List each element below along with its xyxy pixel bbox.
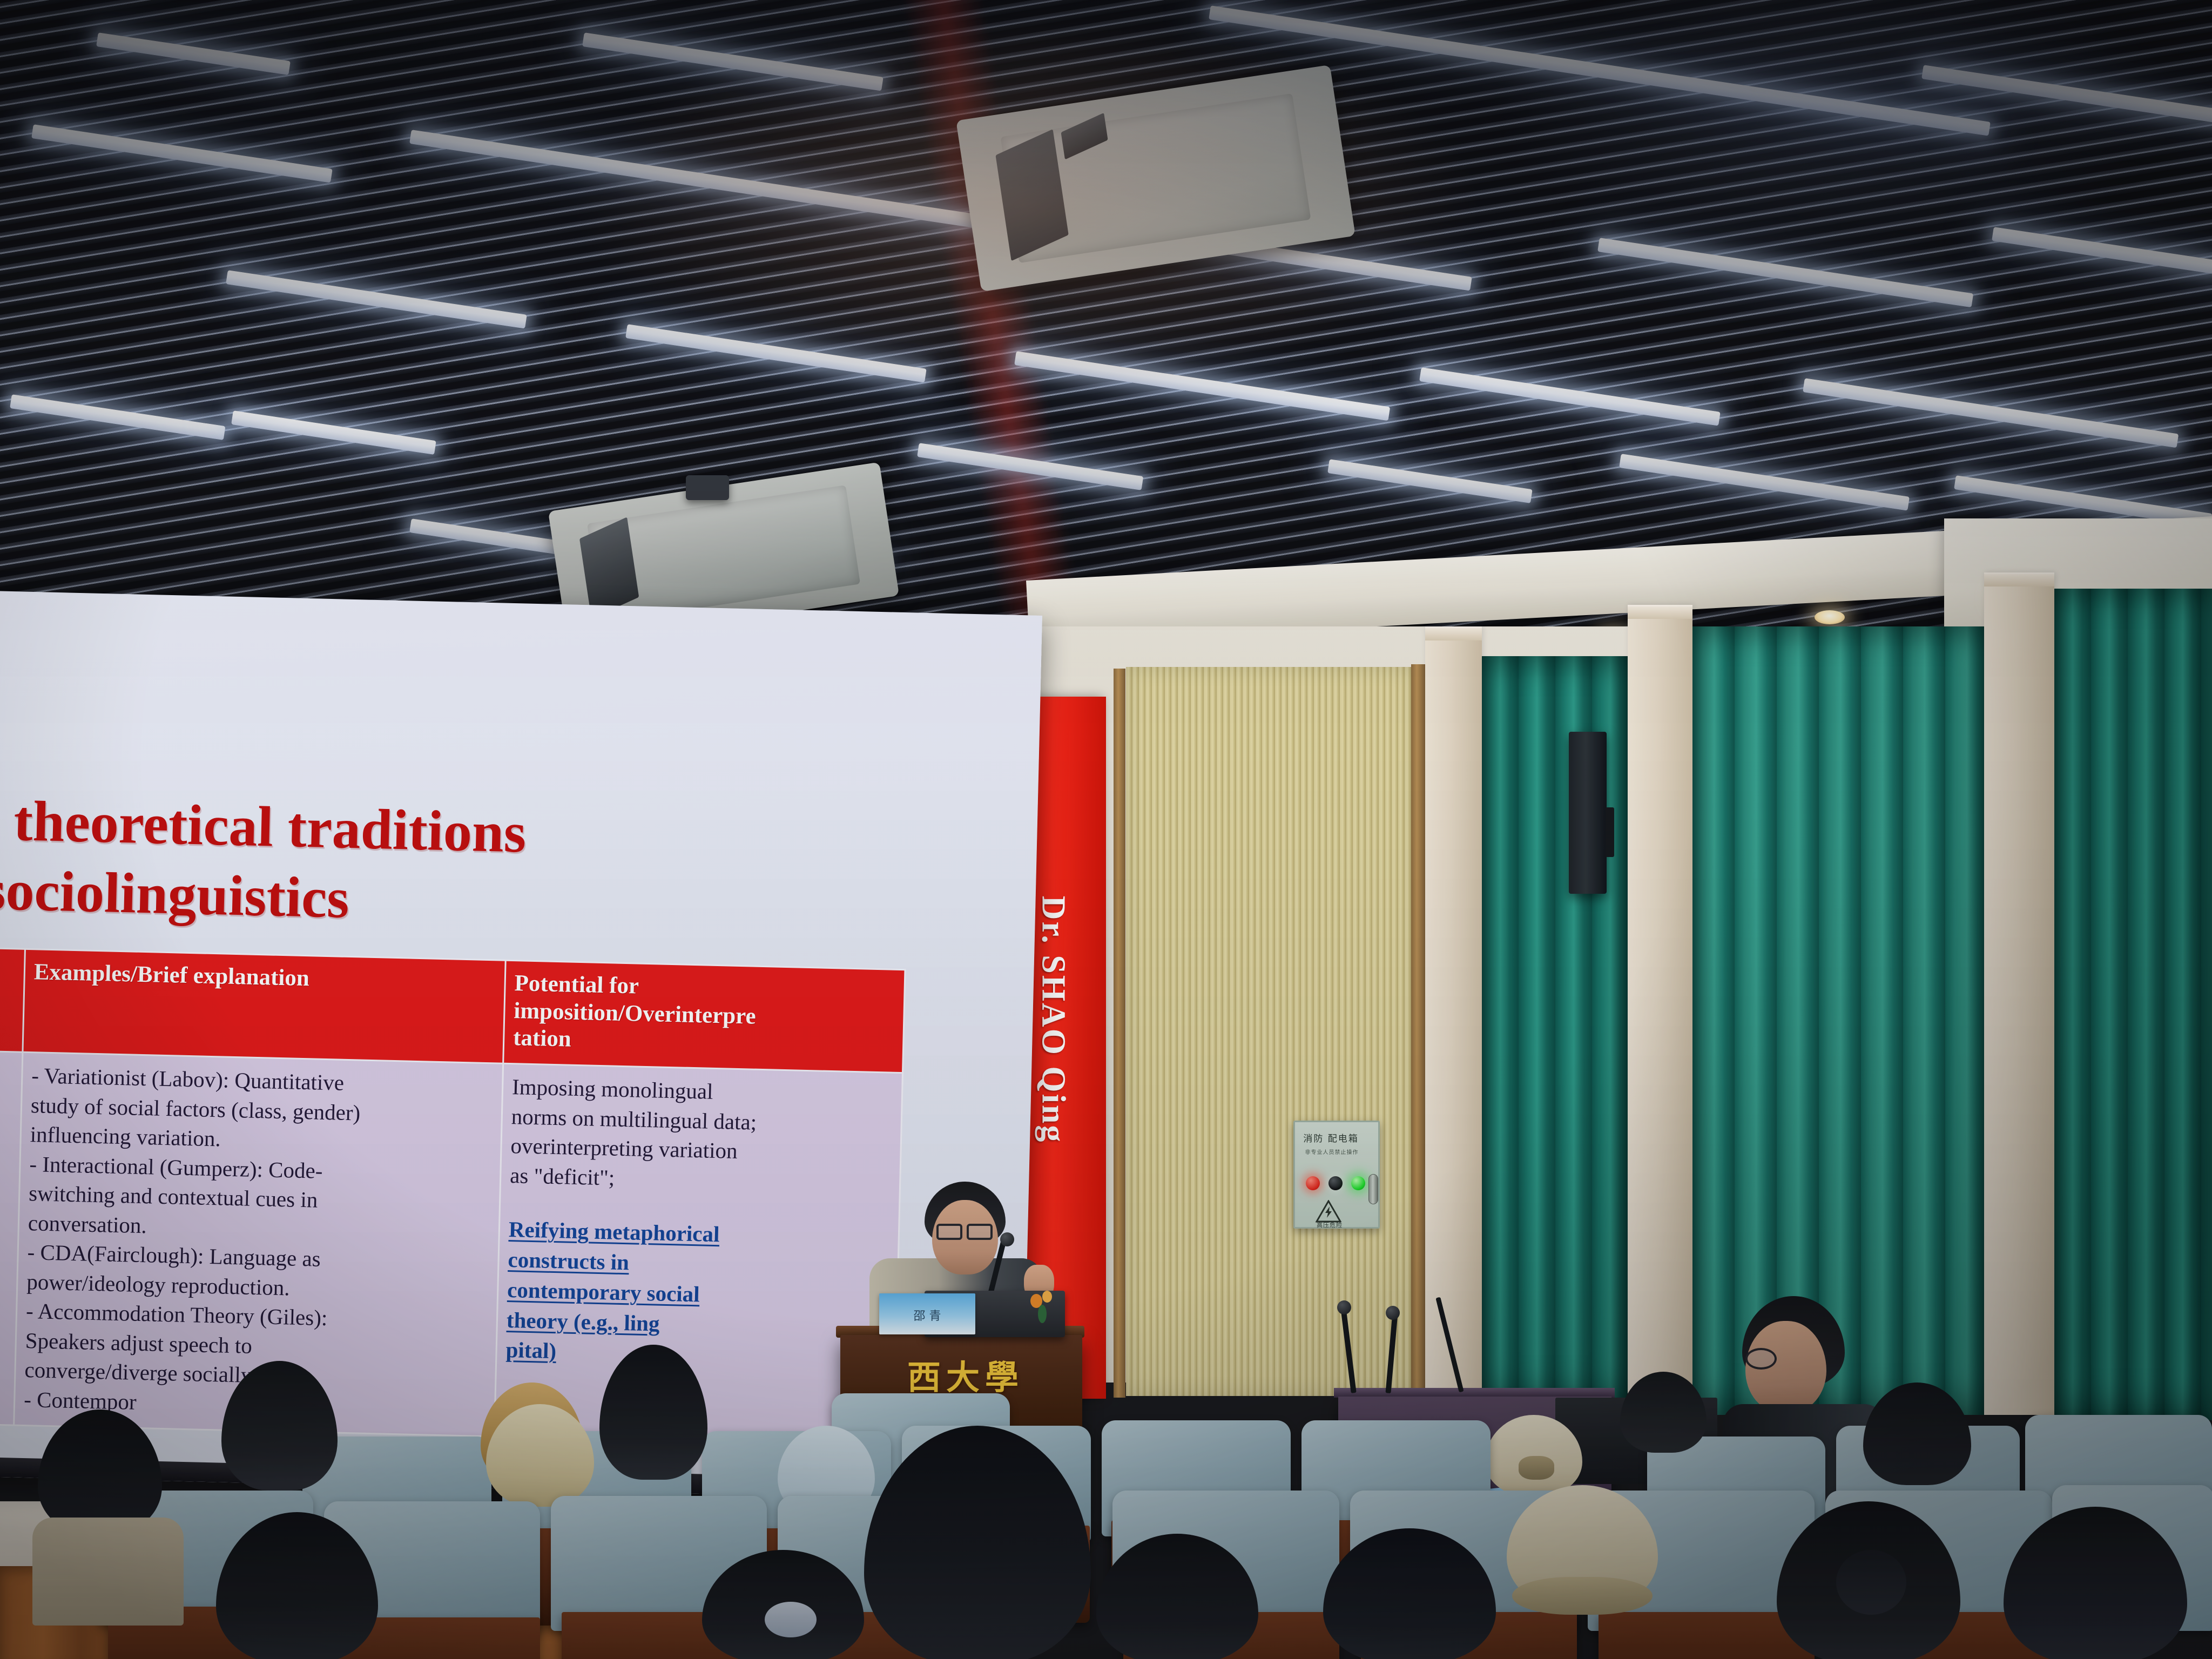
person-hair bbox=[1323, 1528, 1496, 1659]
electrical-control-panel[interactable]: 消防 配电箱 非专业人员禁止操作 高压危险 bbox=[1293, 1121, 1380, 1229]
pilaster-cap bbox=[1628, 605, 1692, 619]
recessed-downlight bbox=[1815, 610, 1845, 624]
header-col1-lines: ory/ orks bbox=[0, 955, 16, 1013]
table-header-potential: Potential for imposition/Overinterpre ta… bbox=[503, 960, 905, 1073]
speaker-bracket bbox=[1606, 807, 1614, 857]
slide-table-body: nist; onal; e s; orary eory… - bbox=[0, 1049, 902, 1446]
seated-person-right-aisle bbox=[1858, 1382, 1998, 1523]
table-header-row: ory/ orks Examples/Brief explanation Pot… bbox=[0, 946, 905, 1073]
seated-person-front-far-right bbox=[1998, 1507, 2212, 1659]
acoustic-slat-wall-panel bbox=[1126, 667, 1418, 1396]
cell-col1-lines: nist; onal; e s; orary eory… bbox=[0, 1057, 13, 1266]
bucket-hat bbox=[1485, 1415, 1582, 1496]
person-hair bbox=[38, 1410, 162, 1534]
presenter-glasses bbox=[936, 1224, 962, 1240]
control-panel-title: 消防 配电箱 bbox=[1303, 1131, 1358, 1144]
hair-scrunchie bbox=[765, 1602, 817, 1637]
wall-pilaster bbox=[1628, 605, 1692, 1404]
seated-person-front-left bbox=[205, 1512, 432, 1659]
wall-trim-strip bbox=[1411, 664, 1425, 1399]
cap-brim bbox=[1512, 1577, 1653, 1615]
high-voltage-warning-label: 高压危险 bbox=[1317, 1220, 1343, 1229]
hair-bun bbox=[1836, 1550, 1906, 1615]
pilaster-cap bbox=[1425, 626, 1482, 640]
seated-person-front-right-b bbox=[1318, 1528, 1512, 1659]
person-hair bbox=[1863, 1382, 1971, 1485]
person-hair bbox=[1096, 1534, 1258, 1659]
flower-petal bbox=[1042, 1291, 1052, 1303]
seated-person-front-right-a bbox=[1091, 1534, 1274, 1659]
seated-person-left-row bbox=[32, 1410, 194, 1626]
podium-flower-arrangement bbox=[1026, 1291, 1069, 1334]
indicator-lamp-red bbox=[1306, 1176, 1320, 1190]
presenter-name-card-text: 邵 青 bbox=[914, 1306, 941, 1324]
slide-table: ory/ orks Examples/Brief explanation Pot… bbox=[0, 945, 906, 1447]
flower-leaf bbox=[1038, 1305, 1047, 1323]
presenter-name-card: 邵 青 bbox=[879, 1293, 975, 1334]
seated-person-front-scrunchie bbox=[697, 1550, 875, 1659]
person-hair bbox=[2004, 1507, 2187, 1659]
presenter-glasses bbox=[967, 1224, 993, 1240]
person-torso bbox=[32, 1518, 184, 1626]
seated-person-front-mid bbox=[842, 1426, 1123, 1659]
seated-person-back-right bbox=[1609, 1372, 1734, 1491]
slide-title: mmon theoretical traditions field: socio… bbox=[0, 782, 844, 945]
wall-pilaster bbox=[1425, 626, 1482, 1399]
lecture-hall-photo: 消防 配电箱 非专业人员禁止操作 高压危险 Dr. SHAO Qing mmon… bbox=[0, 0, 2212, 1659]
seated-person-front-cap bbox=[1501, 1485, 1680, 1658]
table-row: nist; onal; e s; orary eory… - bbox=[0, 1049, 902, 1446]
cell-col3-lines: Imposing monolingual norms on multilingu… bbox=[510, 1072, 893, 1199]
hat-detail bbox=[1519, 1456, 1554, 1480]
banner-speaker-name: Dr. SHAO Qing bbox=[1034, 896, 1073, 1144]
indicator-lamp-green bbox=[1351, 1176, 1365, 1190]
person-hair bbox=[864, 1426, 1091, 1659]
podium-institution-text: 西大學 bbox=[907, 1350, 1024, 1399]
table-microphone-head bbox=[1337, 1300, 1351, 1314]
indicator-lamp-black bbox=[1328, 1176, 1343, 1190]
hooded-top bbox=[486, 1404, 594, 1507]
wall-trim-strip bbox=[1114, 669, 1125, 1398]
person-glasses bbox=[1745, 1348, 1777, 1370]
wall-pilaster bbox=[1984, 572, 2054, 1415]
person-hair bbox=[599, 1345, 707, 1480]
table-header-theory: ory/ orks bbox=[0, 946, 25, 1053]
header-col3-lines: Potential for imposition/Overinterpre ta… bbox=[513, 970, 895, 1061]
person-hair bbox=[221, 1361, 338, 1491]
panel-toggle-switch[interactable] bbox=[1368, 1174, 1378, 1204]
table-microphone-head bbox=[1386, 1306, 1400, 1320]
table-header-examples: Examples/Brief explanation bbox=[23, 949, 505, 1063]
control-panel-subtitle: 非专业人员禁止操作 bbox=[1305, 1148, 1358, 1156]
pilaster-cap bbox=[1984, 572, 2054, 586]
person-hair bbox=[216, 1512, 378, 1659]
person-hair bbox=[1620, 1372, 1707, 1453]
wall-speaker bbox=[1569, 732, 1607, 894]
slide-table-head: ory/ orks Examples/Brief explanation Pot… bbox=[0, 946, 905, 1073]
stage-curtain bbox=[2054, 589, 2212, 1420]
podium-microphone-head bbox=[1000, 1232, 1014, 1246]
